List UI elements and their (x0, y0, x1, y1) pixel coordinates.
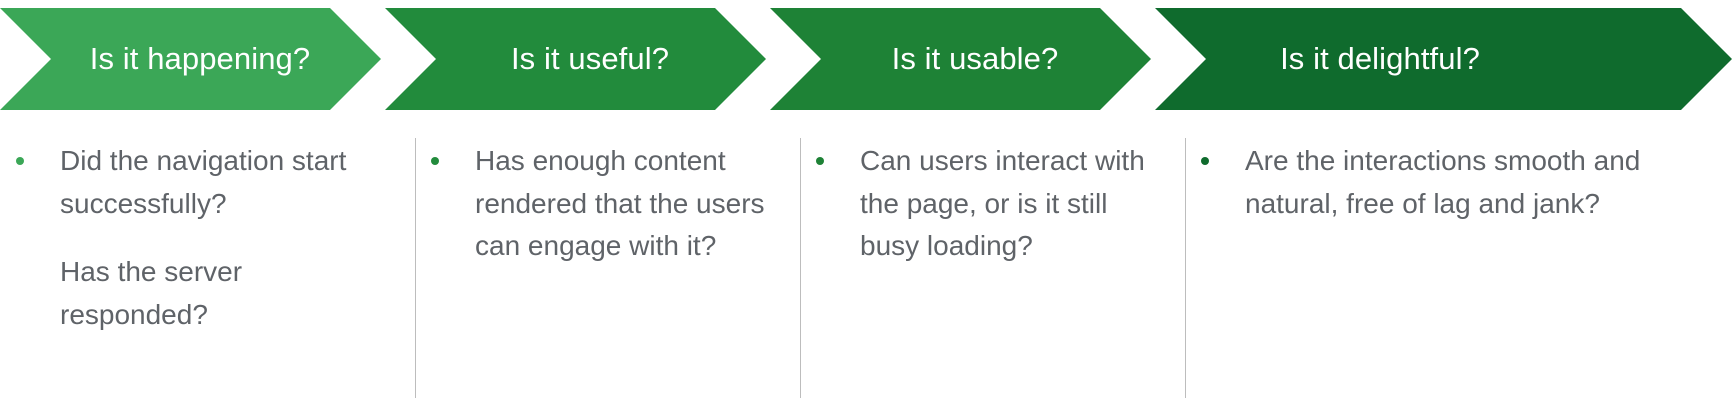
stage-column-1: Did the navigation start successfully? H… (0, 130, 415, 400)
funnel-diagram: Is it happening? Is it useful? Is it usa… (0, 0, 1732, 400)
chevron-shapes (0, 8, 1732, 110)
stage-bullet-text: Has the server responded? (60, 251, 389, 336)
stage-bullets-3: Can users interact with the page, or is … (860, 140, 1159, 268)
stage-bullet-text: Are the interactions smooth and natural,… (1245, 140, 1706, 225)
stage-detail-columns: Did the navigation start successfully? H… (0, 130, 1732, 400)
bullet-dot-icon-2 (431, 157, 439, 165)
stage-bullets-2: Has enough content rendered that the use… (475, 140, 774, 268)
stage-column-3: Can users interact with the page, or is … (800, 130, 1185, 400)
stage-column-4: Are the interactions smooth and natural,… (1185, 130, 1732, 400)
bullet-dot-icon-3 (816, 157, 824, 165)
bullet-dot-icon-1 (16, 157, 24, 165)
column-divider (1185, 138, 1186, 398)
stage-bullet-text: Has enough content rendered that the use… (475, 140, 774, 268)
stage-bullets-1: Did the navigation start successfully? H… (60, 140, 389, 336)
stage-bullet-text: Did the navigation start successfully? (60, 140, 389, 225)
chevron-shape-4[interactable] (1155, 8, 1732, 110)
stage-bullets-4: Are the interactions smooth and natural,… (1245, 140, 1706, 225)
stage-column-2: Has enough content rendered that the use… (415, 130, 800, 400)
chevron-shape-3[interactable] (770, 8, 1151, 110)
column-divider (415, 138, 416, 398)
bullet-dot-icon-4 (1201, 157, 1209, 165)
chevron-shape-1[interactable] (0, 8, 381, 110)
chevron-band: Is it happening? Is it useful? Is it usa… (0, 8, 1732, 110)
column-divider (800, 138, 801, 398)
chevron-shape-2[interactable] (385, 8, 766, 110)
stage-bullet-text: Can users interact with the page, or is … (860, 140, 1159, 268)
